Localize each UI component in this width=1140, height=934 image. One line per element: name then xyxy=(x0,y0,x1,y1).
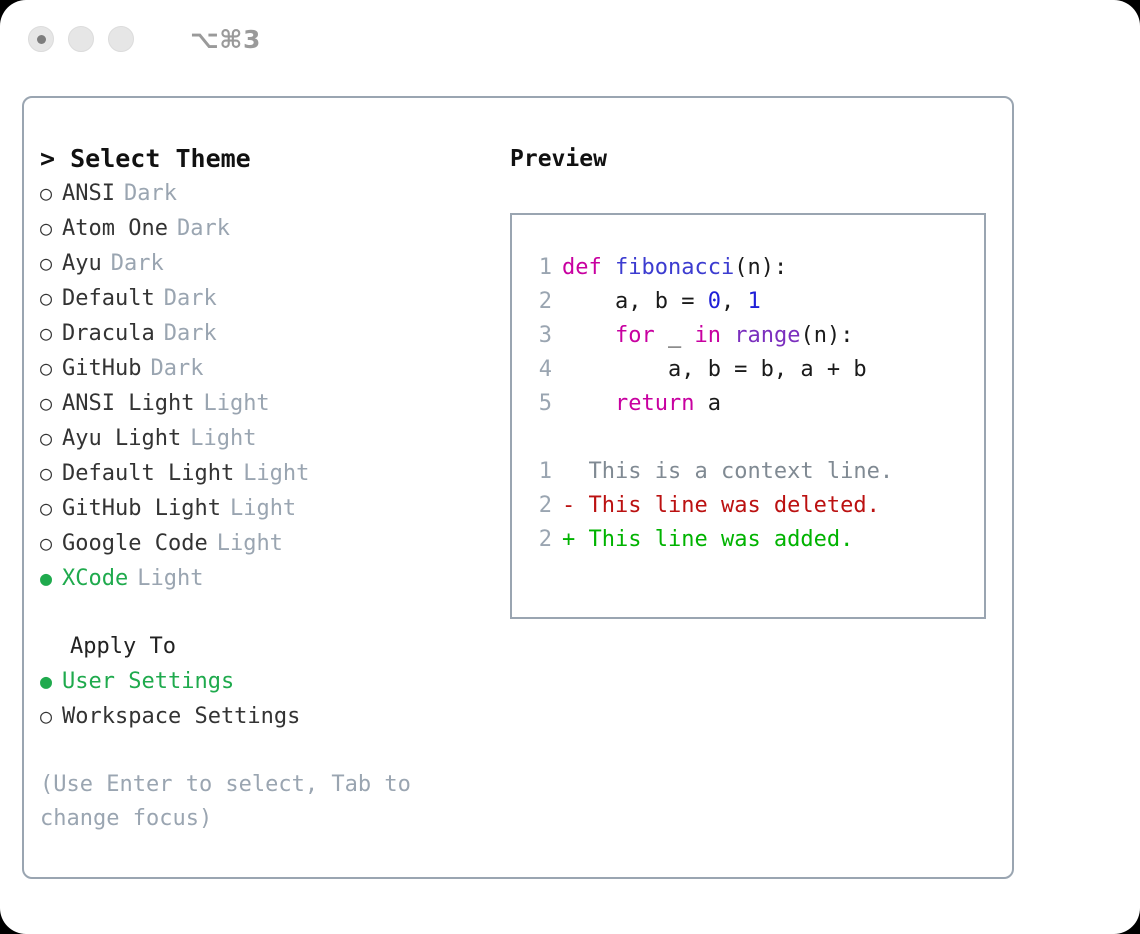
apply-to-option-user-settings[interactable]: ●User Settings xyxy=(40,664,502,699)
theme-variant-badge: Dark xyxy=(111,247,164,281)
theme-option-ayu-light[interactable]: ○Ayu LightLight xyxy=(40,421,502,456)
code-token: return xyxy=(615,391,694,416)
theme-variant-badge: Dark xyxy=(164,317,217,351)
apply-to-header: Apply To xyxy=(40,630,502,664)
radio-empty-icon: ○ xyxy=(40,316,62,350)
theme-variant-badge: Dark xyxy=(164,282,217,316)
apply-to-option-label: Workspace Settings xyxy=(62,700,300,734)
theme-option-dracula[interactable]: ○DraculaDark xyxy=(40,316,502,351)
theme-option-label: Default Light xyxy=(62,457,234,491)
theme-option-xcode[interactable]: ●XCodeLight xyxy=(40,561,502,596)
theme-option-label: Google Code xyxy=(62,527,208,561)
panel-columns: > Select Theme ○ANSIDark○Atom OneDark○Ay… xyxy=(24,98,1012,836)
apply-to-option-label: User Settings xyxy=(62,665,234,699)
code-token xyxy=(562,391,615,416)
theme-option-label: ANSI Light xyxy=(62,387,194,421)
theme-option-label: Dracula xyxy=(62,317,155,351)
theme-selection-column: > Select Theme ○ANSIDark○Atom OneDark○Ay… xyxy=(40,142,502,836)
code-token: a, b = xyxy=(562,289,708,314)
line-number: 2 xyxy=(526,285,552,319)
theme-option-default-light[interactable]: ○Default LightLight xyxy=(40,456,502,491)
traffic-light-two[interactable] xyxy=(68,26,94,52)
line-number: 2 xyxy=(526,523,552,557)
code-token: , xyxy=(721,289,748,314)
diff-line: 1 This is a context line. xyxy=(526,455,984,489)
theme-option-label: GitHub xyxy=(62,352,141,386)
radio-empty-icon: ○ xyxy=(40,421,62,455)
radio-selected-icon: ● xyxy=(40,561,62,595)
line-number: 1 xyxy=(526,251,552,285)
theme-option-github[interactable]: ○GitHubDark xyxy=(40,351,502,386)
line-number: 3 xyxy=(526,319,552,353)
theme-option-github-light[interactable]: ○GitHub LightLight xyxy=(40,491,502,526)
radio-empty-icon: ○ xyxy=(40,176,62,210)
theme-option-label: XCode xyxy=(62,562,128,596)
keyboard-shortcut-label: ⌥⌘3 xyxy=(190,25,261,54)
app-window: ⌥⌘3 > Select Theme ○ANSIDark○Atom OneDar… xyxy=(0,0,1140,934)
traffic-light-active[interactable] xyxy=(28,26,54,52)
code-token xyxy=(721,323,734,348)
preview-column: Preview 1def fibonacci(n):2 a, b = 0, 13… xyxy=(502,142,1012,836)
theme-variant-badge: Light xyxy=(230,492,296,526)
code-token: fibonacci xyxy=(615,255,734,280)
line-number: 5 xyxy=(526,387,552,421)
diff-line: 2- This line was deleted. xyxy=(526,489,984,523)
theme-option-label: Ayu Light xyxy=(62,422,181,456)
code-token: def xyxy=(562,255,615,280)
theme-variant-badge: Light xyxy=(203,387,269,421)
diff-marker: - xyxy=(562,493,589,518)
code-token: in xyxy=(694,323,721,348)
line-number: 2 xyxy=(526,489,552,523)
theme-option-label: Atom One xyxy=(62,212,168,246)
code-token xyxy=(562,323,615,348)
code-token: (n): xyxy=(734,255,787,280)
theme-option-ansi[interactable]: ○ANSIDark xyxy=(40,176,502,211)
traffic-light-dot-icon xyxy=(37,35,46,44)
theme-list: ○ANSIDark○Atom OneDark○AyuDark○DefaultDa… xyxy=(40,176,502,596)
code-token: 0 xyxy=(708,289,721,314)
theme-variant-badge: Light xyxy=(217,527,283,561)
main-panel: > Select Theme ○ANSIDark○Atom OneDark○Ay… xyxy=(22,96,1014,879)
line-number: 4 xyxy=(526,353,552,387)
traffic-light-three[interactable] xyxy=(108,26,134,52)
diff-text: This is a context line. xyxy=(589,459,894,484)
line-number: 1 xyxy=(526,455,552,489)
select-theme-header: > Select Theme xyxy=(40,142,502,176)
theme-variant-badge: Light xyxy=(137,562,203,596)
radio-empty-icon: ○ xyxy=(40,491,62,525)
preview-box: 1def fibonacci(n):2 a, b = 0, 13 for _ i… xyxy=(510,213,986,619)
theme-option-label: Default xyxy=(62,282,155,316)
theme-option-atom-one[interactable]: ○Atom OneDark xyxy=(40,211,502,246)
radio-empty-icon: ○ xyxy=(40,246,62,280)
diff-line: 2+ This line was added. xyxy=(526,523,984,557)
theme-variant-badge: Dark xyxy=(177,212,230,246)
code-token: (n): xyxy=(800,323,853,348)
diff-marker: + xyxy=(562,527,589,552)
code-sample: 1def fibonacci(n):2 a, b = 0, 13 for _ i… xyxy=(526,251,984,421)
code-line: 1def fibonacci(n): xyxy=(526,251,984,285)
radio-selected-icon: ● xyxy=(40,664,62,698)
theme-variant-badge: Dark xyxy=(124,177,177,211)
radio-empty-icon: ○ xyxy=(40,386,62,420)
radio-empty-icon: ○ xyxy=(40,351,62,385)
code-token: _ xyxy=(655,323,695,348)
apply-to-list: ●User Settings○Workspace Settings xyxy=(40,664,502,734)
radio-empty-icon: ○ xyxy=(40,456,62,490)
code-line: 3 for _ in range(n): xyxy=(526,319,984,353)
apply-to-option-workspace-settings[interactable]: ○Workspace Settings xyxy=(40,699,502,734)
code-token: range xyxy=(734,323,800,348)
code-token: 1 xyxy=(747,289,760,314)
code-diff-gap xyxy=(526,421,984,455)
section-spacer xyxy=(40,596,502,630)
theme-option-ansi-light[interactable]: ○ANSI LightLight xyxy=(40,386,502,421)
theme-variant-badge: Light xyxy=(190,422,256,456)
diff-sample: 1 This is a context line.2- This line wa… xyxy=(526,455,984,557)
theme-option-label: ANSI xyxy=(62,177,115,211)
diff-text: This line was added. xyxy=(589,527,854,552)
title-bar: ⌥⌘3 xyxy=(0,0,1140,78)
radio-empty-icon: ○ xyxy=(40,281,62,315)
theme-option-label: Ayu xyxy=(62,247,102,281)
code-line: 5 return a xyxy=(526,387,984,421)
theme-option-ayu[interactable]: ○AyuDark xyxy=(40,246,502,281)
theme-variant-badge: Dark xyxy=(150,352,203,386)
diff-marker xyxy=(562,459,589,484)
diff-text: This line was deleted. xyxy=(589,493,880,518)
preview-title: Preview xyxy=(510,142,1012,176)
radio-empty-icon: ○ xyxy=(40,211,62,245)
code-line: 4 a, b = b, a + b xyxy=(526,353,984,387)
code-token: for xyxy=(615,323,655,348)
code-line: 2 a, b = 0, 1 xyxy=(526,285,984,319)
theme-option-label: GitHub Light xyxy=(62,492,221,526)
theme-option-default[interactable]: ○DefaultDark xyxy=(40,281,502,316)
code-token: a xyxy=(694,391,721,416)
radio-empty-icon: ○ xyxy=(40,699,62,733)
keyboard-hint: (Use Enter to select, Tab to change focu… xyxy=(40,768,440,836)
radio-empty-icon: ○ xyxy=(40,526,62,560)
code-token: a, b = b, a + b xyxy=(562,357,867,382)
theme-option-google-code[interactable]: ○Google CodeLight xyxy=(40,526,502,561)
theme-variant-badge: Light xyxy=(243,457,309,491)
